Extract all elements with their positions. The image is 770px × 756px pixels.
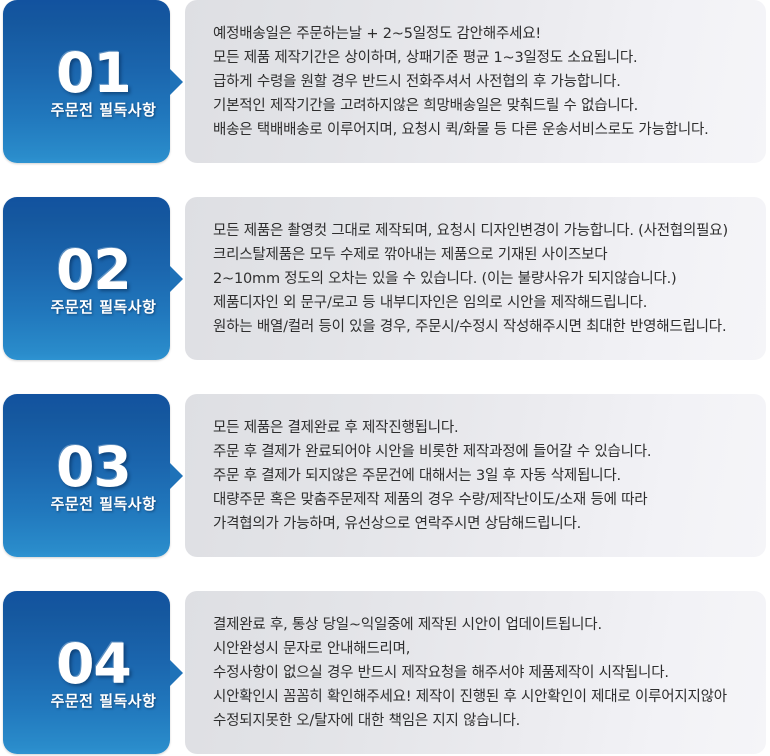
notice-line: 예정배송일은 주문하는날 + 2~5일정도 감안해주세요! bbox=[213, 22, 740, 46]
notice-line: 대량주문 혹은 맞춤주문제작 제품의 경우 수량/제작난이도/소재 등에 따라 bbox=[213, 488, 740, 512]
step-badge-inner: 02 주문전 필독사항 bbox=[3, 197, 170, 360]
step-badge-04: 04 주문전 필독사항 bbox=[3, 591, 170, 754]
step-number: 01 bbox=[56, 46, 131, 101]
arrow-right-icon bbox=[170, 463, 183, 489]
notice-line: 모든 제품 제작기간은 상이하며, 상패기준 평균 1~3일정도 소요됩니다. bbox=[213, 46, 740, 70]
notice-line: 모든 제품은 촬영컷 그대로 제작되며, 요청시 디자인변경이 가능합니다. (… bbox=[213, 219, 740, 243]
arrow-right-icon bbox=[170, 660, 183, 686]
notice-line: 제품디자인 외 문구/로고 등 내부디자인은 임의로 시안을 제작해드립니다. bbox=[213, 291, 740, 315]
notice-line: 모든 제품은 결제완료 후 제작진행됩니다. bbox=[213, 416, 740, 440]
step-number: 02 bbox=[56, 243, 131, 298]
step-badge-02: 02 주문전 필독사항 bbox=[3, 197, 170, 360]
notice-line: 크리스탈제품은 모두 수제로 깎아내는 제품으로 기재된 사이즈보다 bbox=[213, 243, 740, 267]
step-badge-inner: 01 주문전 필독사항 bbox=[3, 0, 170, 163]
notice-line: 기본적인 제작기간을 고려하지않은 희망배송일은 맞춰드릴 수 없습니다. bbox=[213, 94, 740, 118]
notice-panel-04: 결제완료 후, 통상 당일~익일중에 제작된 시안이 업데이트됩니다. 시안완성… bbox=[185, 591, 766, 754]
step-caption: 주문전 필독사항 bbox=[51, 694, 157, 709]
notice-line: 시안확인시 꼼꼼히 확인해주세요! 제작이 진행된 후 시안확인이 제대로 이루… bbox=[213, 685, 740, 709]
notice-line: 수정되지못한 오/탈자에 대한 책임은 지지 않습니다. bbox=[213, 709, 740, 733]
step-badge-inner: 04 주문전 필독사항 bbox=[3, 591, 170, 754]
step-caption: 주문전 필독사항 bbox=[51, 300, 157, 315]
notice-board: 01 주문전 필독사항 예정배송일은 주문하는날 + 2~5일정도 감안해주세요… bbox=[0, 0, 770, 756]
step-number: 03 bbox=[56, 440, 131, 495]
notice-line: 주문 후 결제가 되지않은 주문건에 대해서는 3일 후 자동 삭제됩니다. bbox=[213, 464, 740, 488]
notice-panel-03: 모든 제품은 결제완료 후 제작진행됩니다. 주문 후 결제가 완료되어야 시안… bbox=[185, 394, 766, 557]
notice-section-01: 01 주문전 필독사항 예정배송일은 주문하는날 + 2~5일정도 감안해주세요… bbox=[0, 0, 770, 163]
step-number: 04 bbox=[56, 637, 131, 692]
step-badge-01: 01 주문전 필독사항 bbox=[3, 0, 170, 163]
notice-line: 시안완성시 문자로 안내해드리며, bbox=[213, 637, 740, 661]
notice-panel-02: 모든 제품은 촬영컷 그대로 제작되며, 요청시 디자인변경이 가능합니다. (… bbox=[185, 197, 766, 360]
arrow-right-icon bbox=[170, 69, 183, 95]
step-caption: 주문전 필독사항 bbox=[51, 497, 157, 512]
notice-line: 결제완료 후, 통상 당일~익일중에 제작된 시안이 업데이트됩니다. bbox=[213, 613, 740, 637]
notice-line: 주문 후 결제가 완료되어야 시안을 비롯한 제작과정에 들어갈 수 있습니다. bbox=[213, 440, 740, 464]
notice-line: 급하게 수령을 원할 경우 반드시 전화주셔서 사전협의 후 가능합니다. bbox=[213, 70, 740, 94]
step-badge-inner: 03 주문전 필독사항 bbox=[3, 394, 170, 557]
notice-line: 2~10mm 정도의 오차는 있을 수 있습니다. (이는 불량사유가 되지않습… bbox=[213, 267, 740, 291]
arrow-right-icon bbox=[170, 266, 183, 292]
notice-line: 원하는 배열/컬러 등이 있을 경우, 주문시/수정시 작성해주시면 최대한 반… bbox=[213, 315, 740, 339]
notice-panel-01: 예정배송일은 주문하는날 + 2~5일정도 감안해주세요! 모든 제품 제작기간… bbox=[185, 0, 766, 163]
notice-line: 수정사항이 없으실 경우 반드시 제작요청을 해주서야 제품제작이 시작됩니다. bbox=[213, 661, 740, 685]
notice-section-03: 03 주문전 필독사항 모든 제품은 결제완료 후 제작진행됩니다. 주문 후 … bbox=[0, 394, 770, 557]
notice-line: 배송은 택배배송로 이루어지며, 요청시 퀵/화물 등 다른 운송서비스로도 가… bbox=[213, 118, 740, 142]
step-badge-03: 03 주문전 필독사항 bbox=[3, 394, 170, 557]
notice-line: 가격협의가 가능하며, 유선상으로 연락주시면 상담해드립니다. bbox=[213, 512, 740, 536]
notice-section-02: 02 주문전 필독사항 모든 제품은 촬영컷 그대로 제작되며, 요청시 디자인… bbox=[0, 197, 770, 360]
step-caption: 주문전 필독사항 bbox=[51, 103, 157, 118]
notice-section-04: 04 주문전 필독사항 결제완료 후, 통상 당일~익일중에 제작된 시안이 업… bbox=[0, 591, 770, 754]
